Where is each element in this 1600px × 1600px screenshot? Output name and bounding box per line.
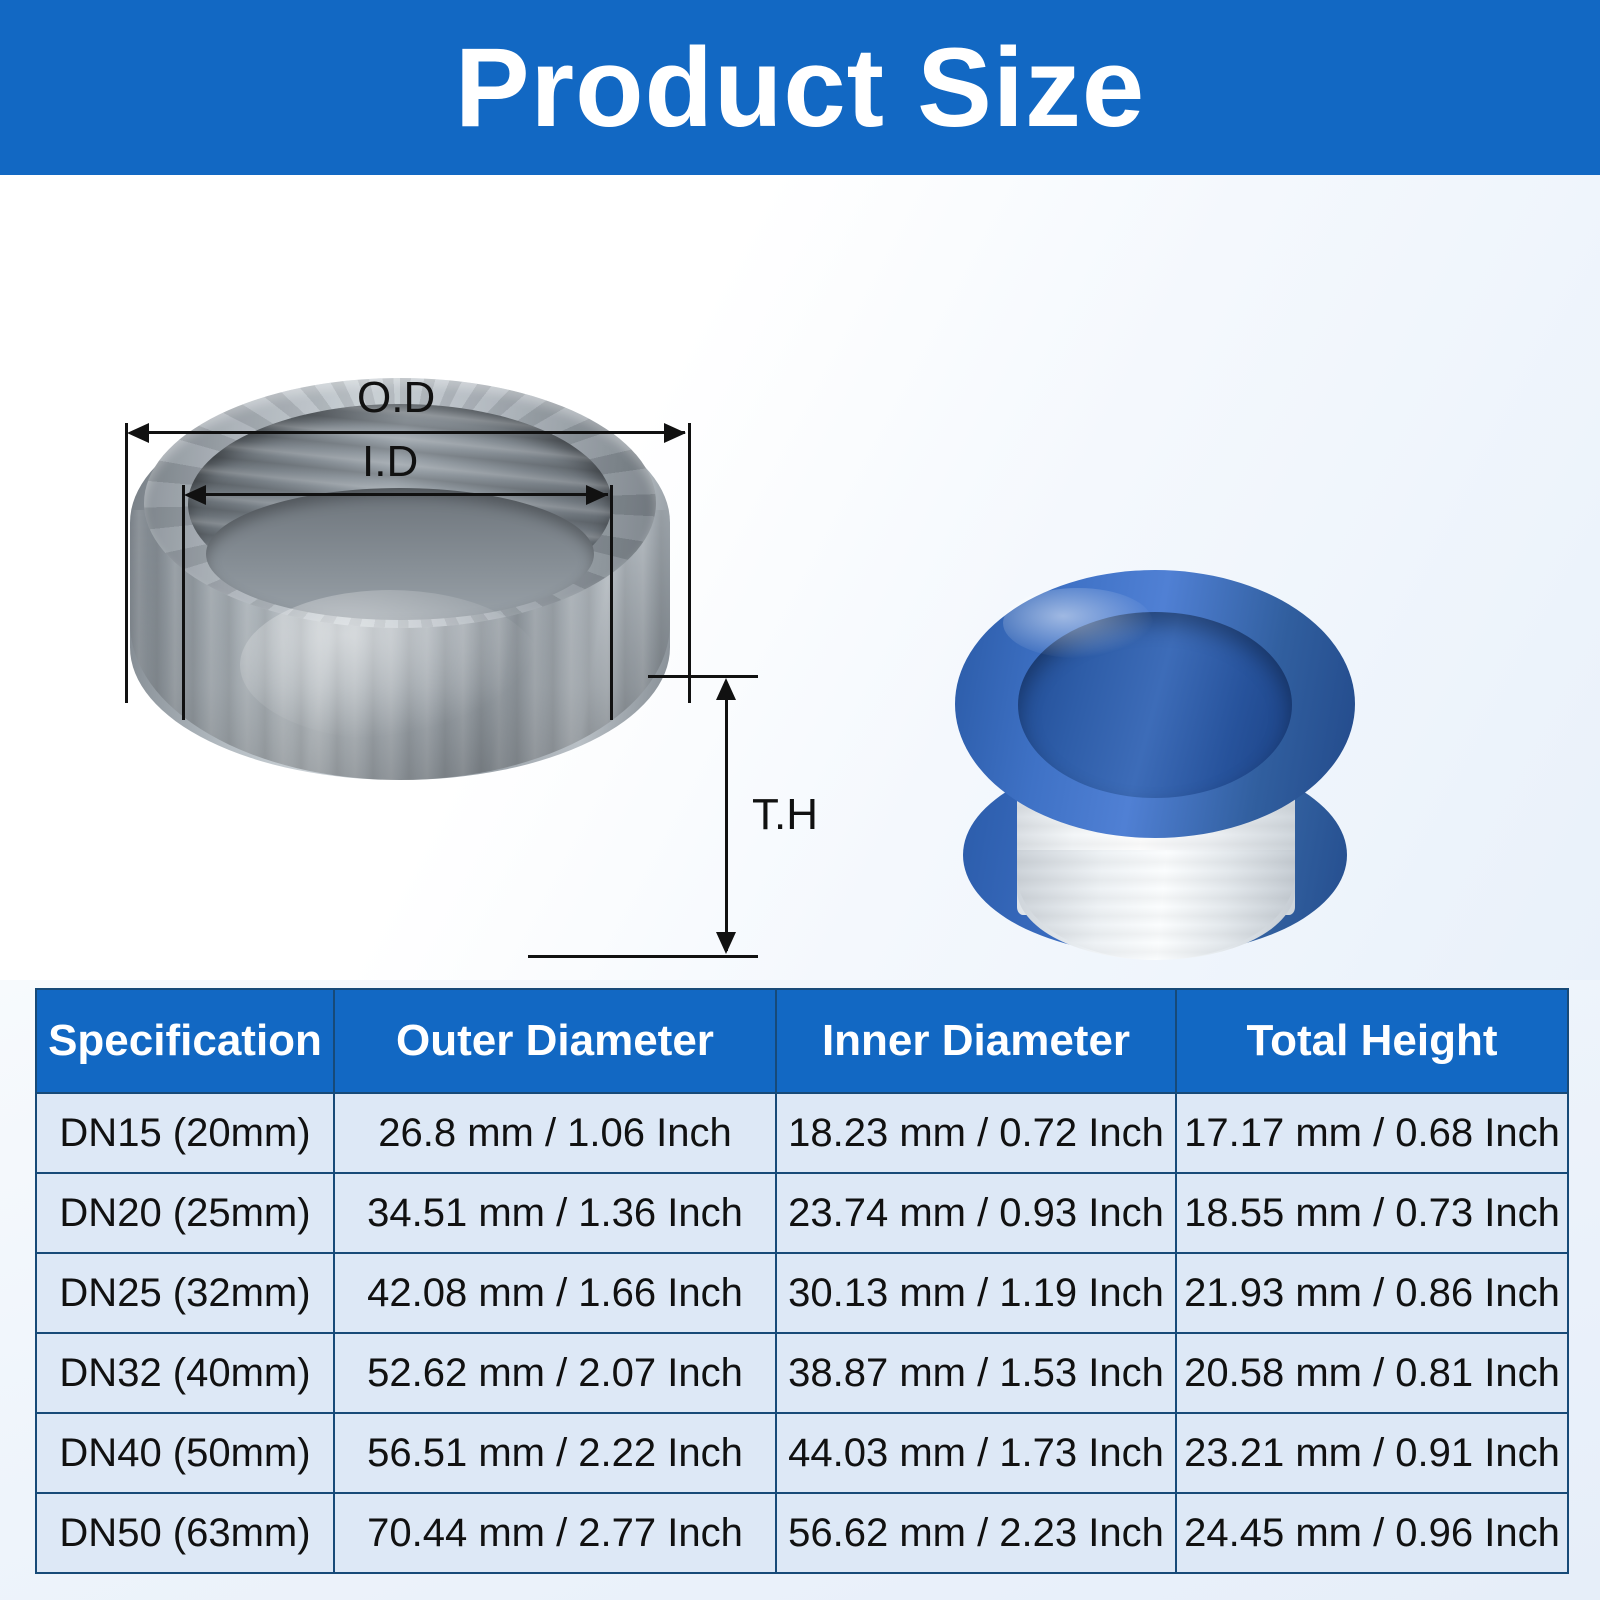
cell-outer-diameter: 26.8 mm / 1.06 Inch: [334, 1093, 776, 1173]
th-bottom-extension-line: [528, 955, 758, 958]
table-row: DN50 (63mm) 70.44 mm / 2.77 Inch 56.62 m…: [36, 1493, 1568, 1573]
cell-total-height: 24.45 mm / 0.96 Inch: [1176, 1493, 1568, 1573]
col-header-inner-diameter: Inner Diameter: [776, 989, 1176, 1093]
id-right-extension-line: [610, 485, 613, 720]
cell-total-height: 18.55 mm / 0.73 Inch: [1176, 1173, 1568, 1253]
cell-inner-diameter: 44.03 mm / 1.73 Inch: [776, 1413, 1176, 1493]
cell-specification: DN15 (20mm): [36, 1093, 334, 1173]
table-row: DN32 (40mm) 52.62 mm / 2.07 Inch 38.87 m…: [36, 1333, 1568, 1413]
cell-inner-diameter: 38.87 mm / 1.53 Inch: [776, 1333, 1176, 1413]
col-header-outer-diameter: Outer Diameter: [334, 989, 776, 1093]
table-row: DN20 (25mm) 34.51 mm / 1.36 Inch 23.74 m…: [36, 1173, 1568, 1253]
product-showcase: O.D I.D T.H 5 Pcs 1 Pcs: [0, 175, 1600, 980]
table-header-row: Specification Outer Diameter Inner Diame…: [36, 989, 1568, 1093]
table-row: DN15 (20mm) 26.8 mm / 1.06 Inch 18.23 mm…: [36, 1093, 1568, 1173]
od-arrow-right: [664, 423, 686, 443]
cell-outer-diameter: 52.62 mm / 2.07 Inch: [334, 1333, 776, 1413]
cell-inner-diameter: 18.23 mm / 0.72 Inch: [776, 1093, 1176, 1173]
cell-outer-diameter: 42.08 mm / 1.66 Inch: [334, 1253, 776, 1333]
cell-specification: DN25 (32mm): [36, 1253, 334, 1333]
od-label: O.D: [357, 373, 435, 423]
cell-total-height: 21.93 mm / 0.86 Inch: [1176, 1253, 1568, 1333]
specification-table-zone: Specification Outer Diameter Inner Diame…: [0, 980, 1600, 1600]
cell-specification: DN50 (63mm): [36, 1493, 334, 1573]
th-dimension-line: [725, 683, 728, 951]
header-banner: Product Size: [0, 0, 1600, 175]
cell-outer-diameter: 34.51 mm / 1.36 Inch: [334, 1173, 776, 1253]
tape-highlight: [1003, 588, 1153, 658]
id-arrow-right: [586, 485, 608, 505]
cell-total-height: 23.21 mm / 0.91 Inch: [1176, 1413, 1568, 1493]
cell-inner-diameter: 30.13 mm / 1.19 Inch: [776, 1253, 1176, 1333]
id-left-extension-line: [182, 485, 185, 720]
od-arrow-left: [127, 423, 149, 443]
id-arrow-left: [184, 485, 206, 505]
id-dimension-line: [190, 493, 608, 496]
th-label: T.H: [752, 790, 818, 840]
cell-total-height: 20.58 mm / 0.81 Inch: [1176, 1333, 1568, 1413]
col-header-total-height: Total Height: [1176, 989, 1568, 1093]
specification-table: Specification Outer Diameter Inner Diame…: [35, 988, 1569, 1574]
id-label: I.D: [362, 437, 418, 487]
cell-specification: DN20 (25mm): [36, 1173, 334, 1253]
pvc-end-cap-image: [110, 360, 690, 790]
product-size-infographic: Product Size O.D I.D: [0, 0, 1600, 1600]
cell-inner-diameter: 56.62 mm / 2.23 Inch: [776, 1493, 1176, 1573]
od-right-extension-line: [688, 423, 691, 703]
th-arrow-up: [716, 678, 736, 700]
cell-outer-diameter: 70.44 mm / 2.77 Inch: [334, 1493, 776, 1573]
cell-specification: DN40 (50mm): [36, 1413, 334, 1493]
cap-highlight: [240, 590, 540, 740]
cell-outer-diameter: 56.51 mm / 2.22 Inch: [334, 1413, 776, 1493]
th-arrow-down: [716, 932, 736, 954]
ptfe-tape-roll-image: [955, 570, 1355, 970]
page-title: Product Size: [455, 32, 1145, 144]
col-header-specification: Specification: [36, 989, 334, 1093]
cell-total-height: 17.17 mm / 0.68 Inch: [1176, 1093, 1568, 1173]
od-left-extension-line: [125, 423, 128, 703]
table-row: DN40 (50mm) 56.51 mm / 2.22 Inch 44.03 m…: [36, 1413, 1568, 1493]
th-top-extension-line: [648, 675, 758, 678]
od-dimension-line: [133, 431, 685, 434]
cell-specification: DN32 (40mm): [36, 1333, 334, 1413]
cell-inner-diameter: 23.74 mm / 0.93 Inch: [776, 1173, 1176, 1253]
table-row: DN25 (32mm) 42.08 mm / 1.66 Inch 30.13 m…: [36, 1253, 1568, 1333]
